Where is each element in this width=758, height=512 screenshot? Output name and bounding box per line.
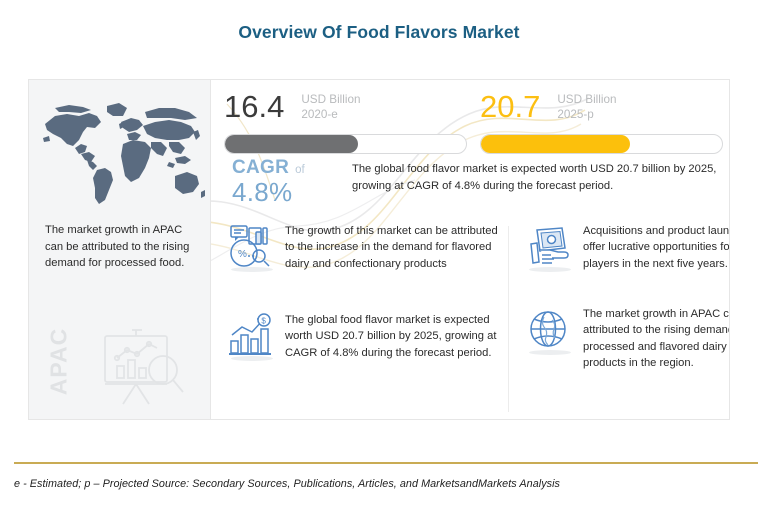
icon-shadow: [231, 267, 273, 272]
kpi-2020-units-line2: 2020-e: [301, 108, 360, 123]
kpi-2025-progress-fill: [481, 135, 630, 153]
kpi-2025-units-line1: USD Billion: [557, 93, 616, 108]
svg-text:$: $: [261, 316, 266, 325]
summary-text: The global food flavor market is expecte…: [352, 161, 722, 194]
bar-chart-growth-dollar-icon: $: [226, 311, 276, 361]
card-acquisitions-text: Acquisitions and product launches would …: [583, 222, 730, 272]
cagr-of-text: of: [295, 164, 305, 176]
kpi-2020-units-line1: USD Billion: [301, 93, 360, 108]
footer-divider: [14, 462, 758, 464]
kpi-2020-progress-track: [224, 134, 467, 154]
left-panel-note: The market growth in APAC can be attribu…: [45, 222, 197, 272]
card-acquisitions: Acquisitions and product launches would …: [524, 222, 730, 272]
icon-shadow: [231, 356, 273, 361]
infographic-board: The market growth in APAC can be attribu…: [28, 79, 730, 420]
kpi-2020-value: 16.4: [224, 90, 284, 124]
cards-grid: % The growth of this market can be attri…: [212, 220, 730, 420]
cagr-value: 4.8%: [232, 177, 350, 208]
apac-watermark-label: APAC: [46, 322, 73, 402]
kpi-2020-progress-fill: [225, 135, 358, 153]
kpi-2025: 20.7 USD Billion 2025-p: [480, 90, 723, 154]
column-divider: [508, 226, 509, 412]
presentation-chart-magnifier-icon: [87, 322, 197, 414]
kpi-2020-units: USD Billion 2020-e: [301, 90, 360, 122]
cash-in-hand-icon: [524, 222, 574, 272]
globe-icon: [524, 305, 574, 355]
card-market-value: $ The global food flavor market is expec…: [226, 311, 498, 361]
footer-note: e - Estimated; p – Projected Source: Sec…: [14, 478, 744, 490]
card-apac-growth-text: The market growth in APAC can be attribu…: [583, 305, 730, 371]
icon-shadow: [529, 267, 571, 272]
card-flavored-dairy: % The growth of this market can be attri…: [226, 222, 498, 272]
kpi-2025-units-line2: 2025-p: [557, 108, 616, 123]
kpi-2025-value: 20.7: [480, 90, 540, 124]
left-panel: The market growth in APAC can be attribu…: [29, 80, 211, 420]
page-title: Overview Of Food Flavors Market: [0, 22, 758, 43]
kpi-2020: 16.4 USD Billion 2020-e: [224, 90, 467, 154]
percent-document-chart-search-icon: %: [226, 222, 276, 272]
svg-text:%: %: [238, 249, 247, 260]
kpi-2025-units: USD Billion 2025-p: [557, 90, 616, 122]
content-region: 16.4 USD Billion 2020-e 20.7 USD Billion…: [212, 80, 730, 420]
card-flavored-dairy-text: The growth of this market can be attribu…: [285, 222, 498, 272]
icon-shadow: [529, 350, 571, 355]
cagr-block: CAGR of 4.8%: [232, 157, 350, 208]
world-map: [35, 94, 207, 210]
cagr-label: CAGR: [232, 157, 289, 179]
kpi-2025-progress-track: [480, 134, 723, 154]
card-apac-growth: The market growth in APAC can be attribu…: [524, 305, 730, 371]
card-market-value-text: The global food flavor market is expecte…: [285, 311, 498, 361]
